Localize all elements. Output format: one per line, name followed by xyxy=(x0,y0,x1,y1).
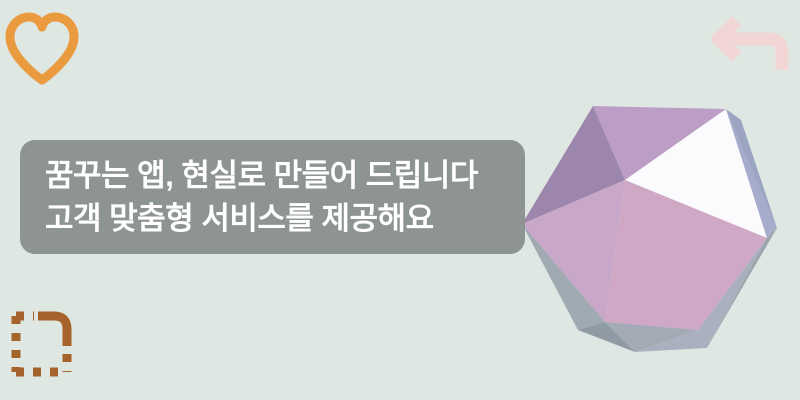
headline-line-2: 고객 맞춤형 서비스를 제공해요 xyxy=(45,197,525,240)
dashed-corner-bracket-icon xyxy=(10,306,90,386)
heart-icon xyxy=(2,10,82,86)
promo-banner-canvas: 꿈꾸는 앱, 현실로 만들어 드립니다 고객 맞춤형 서비스를 제공해요 xyxy=(0,0,800,400)
headline-banner: 꿈꾸는 앱, 현실로 만들어 드립니다 고객 맞춤형 서비스를 제공해요 xyxy=(20,140,525,254)
headline-line-1: 꿈꾸는 앱, 현실로 만들어 드립니다 xyxy=(45,154,525,197)
icosahedron-graphic xyxy=(505,80,795,370)
undo-arrow-icon xyxy=(710,14,792,76)
